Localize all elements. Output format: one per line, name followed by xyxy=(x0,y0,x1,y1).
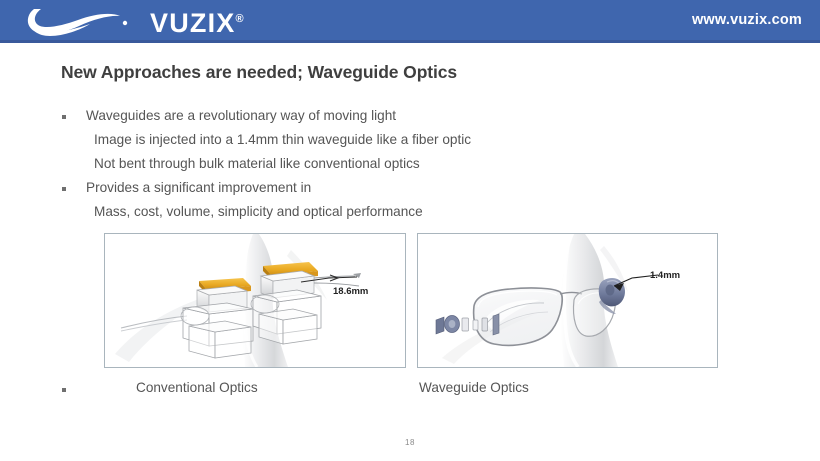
vuzix-wordmark: VUZIX® xyxy=(150,10,244,37)
vuzix-swoosh-logo xyxy=(24,5,144,39)
header-bar: VUZIX® www.vuzix.com xyxy=(0,0,820,43)
header-bar-underline xyxy=(0,40,820,43)
caption-waveguide-optics: Waveguide Optics xyxy=(419,380,529,395)
list-item-text: Mass, cost, volume, simplicity and optic… xyxy=(94,204,423,219)
list-item-text: Provides a significant improvement in xyxy=(86,180,311,195)
registered-mark-icon: ® xyxy=(236,13,244,25)
list-item: Mass, cost, volume, simplicity and optic… xyxy=(58,202,698,226)
list-item: Image is injected into a 1.4mm thin wave… xyxy=(58,130,698,154)
bullet-marker-icon xyxy=(62,388,66,392)
page-number: 18 xyxy=(0,438,820,447)
figure-panel-waveguide-optics[interactable]: 1.4mm xyxy=(417,233,718,368)
conventional-optics-render xyxy=(105,234,405,367)
figure-captions: Conventional Optics Waveguide Optics xyxy=(58,380,738,400)
conventional-optics-illustration xyxy=(105,234,405,367)
list-item-text: Image is injected into a 1.4mm thin wave… xyxy=(94,132,471,147)
list-item-text: Waveguides are a revolutionary way of mo… xyxy=(86,108,396,123)
list-item-text: Not bent through bulk material like conv… xyxy=(94,156,420,171)
figure-panel-conventional-optics[interactable]: 18.6mm xyxy=(104,233,406,368)
caption-conventional-optics: Conventional Optics xyxy=(136,380,258,395)
dimension-label-1-4mm: 1.4mm xyxy=(650,270,680,281)
list-item: Not bent through bulk material like conv… xyxy=(58,154,698,178)
vuzix-logo[interactable]: VUZIX® xyxy=(24,4,294,40)
dimension-label-18-6mm: 18.6mm xyxy=(333,286,368,297)
waveguide-optics-illustration xyxy=(418,234,717,367)
waveguide-optics-render xyxy=(418,234,717,367)
header-website-url[interactable]: www.vuzix.com xyxy=(692,12,802,28)
bullet-marker-icon xyxy=(62,187,66,191)
list-item: Provides a significant improvement in xyxy=(58,178,698,202)
body-bullet-list: Waveguides are a revolutionary way of mo… xyxy=(58,106,698,226)
page-title: New Approaches are needed; Waveguide Opt… xyxy=(61,62,457,83)
list-item: Waveguides are a revolutionary way of mo… xyxy=(58,106,698,130)
bullet-marker-icon xyxy=(62,115,66,119)
